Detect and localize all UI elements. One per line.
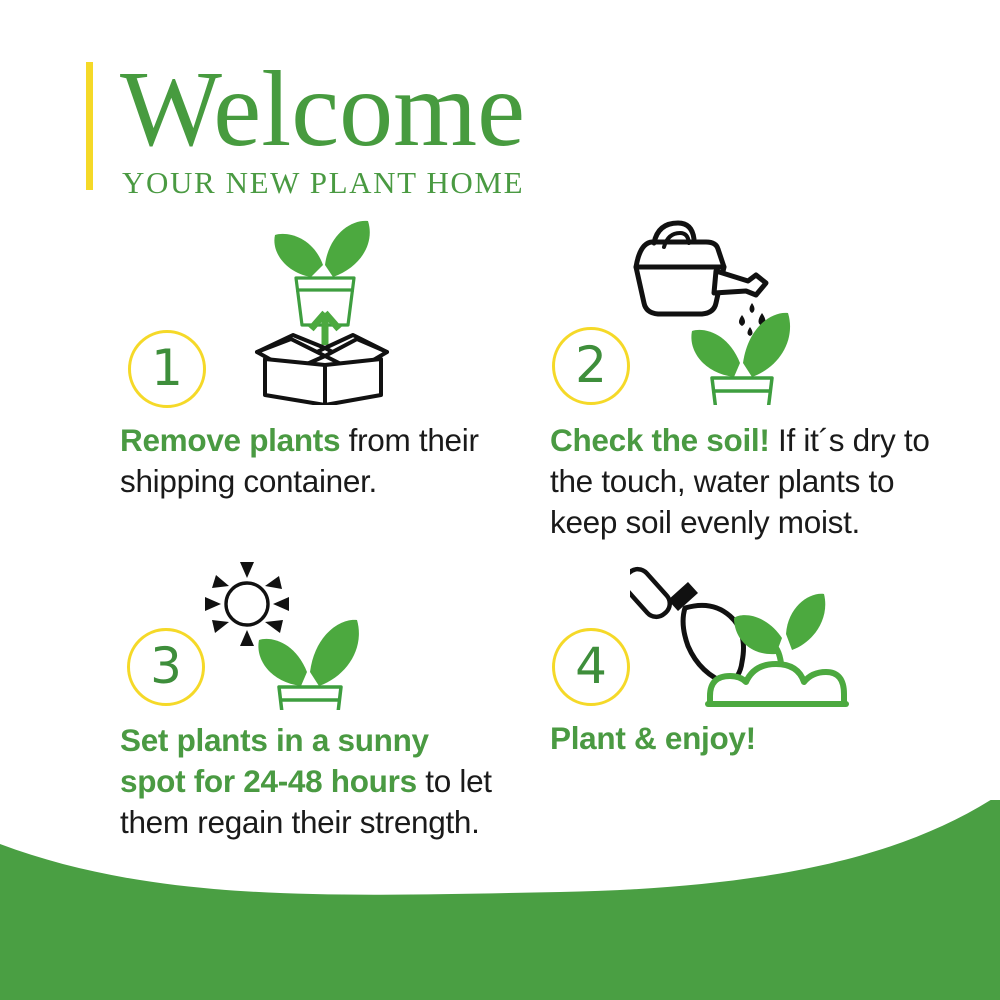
- plant-in-box-icon: [235, 215, 410, 410]
- step-2-text: Check the soil! If it´s dry to the touch…: [550, 420, 960, 543]
- step-4-lead: Plant & enjoy!: [550, 720, 756, 756]
- header-text-block: Welcome YOUR NEW PLANT HOME: [120, 58, 525, 200]
- step-1-badge: 1: [128, 330, 206, 408]
- page-subtitle: YOUR NEW PLANT HOME: [122, 166, 525, 200]
- watering-can-plant-icon: [630, 215, 820, 410]
- step-3-badge: 3: [127, 628, 205, 706]
- trowel-seedling-icon: [630, 560, 860, 725]
- bottom-wave-decoration: [0, 800, 1000, 1000]
- welcome-plant-care-infographic: Welcome YOUR NEW PLANT HOME: [0, 0, 1000, 1000]
- step-1-text: Remove plants from their shipping contai…: [120, 420, 518, 502]
- page-title: Welcome: [120, 58, 525, 162]
- page-header: Welcome YOUR NEW PLANT HOME: [86, 58, 886, 193]
- step-1-lead: Remove plants: [120, 422, 340, 458]
- step-4-badge: 4: [552, 628, 630, 706]
- header-accent-bar: [86, 62, 93, 190]
- step-2-number: 2: [555, 330, 627, 402]
- step-2-lead: Check the soil!: [550, 422, 770, 458]
- step-3-lead: Set plants in a sunny spot for 24-48 hou…: [120, 722, 429, 799]
- step-1: 1 Remove plants from their shipping cont…: [120, 215, 520, 515]
- step-1-number: 1: [131, 333, 203, 405]
- step-4-number: 4: [555, 631, 627, 703]
- step-4-text: Plant & enjoy!: [550, 718, 960, 759]
- step-3-number: 3: [130, 631, 202, 703]
- step-2: 2 Check the soil! If it´s dry to the tou…: [550, 215, 960, 545]
- sun-plant-icon: [195, 560, 390, 715]
- step-2-badge: 2: [552, 327, 630, 405]
- step-4: 4 Plant & enjoy!: [550, 560, 960, 810]
